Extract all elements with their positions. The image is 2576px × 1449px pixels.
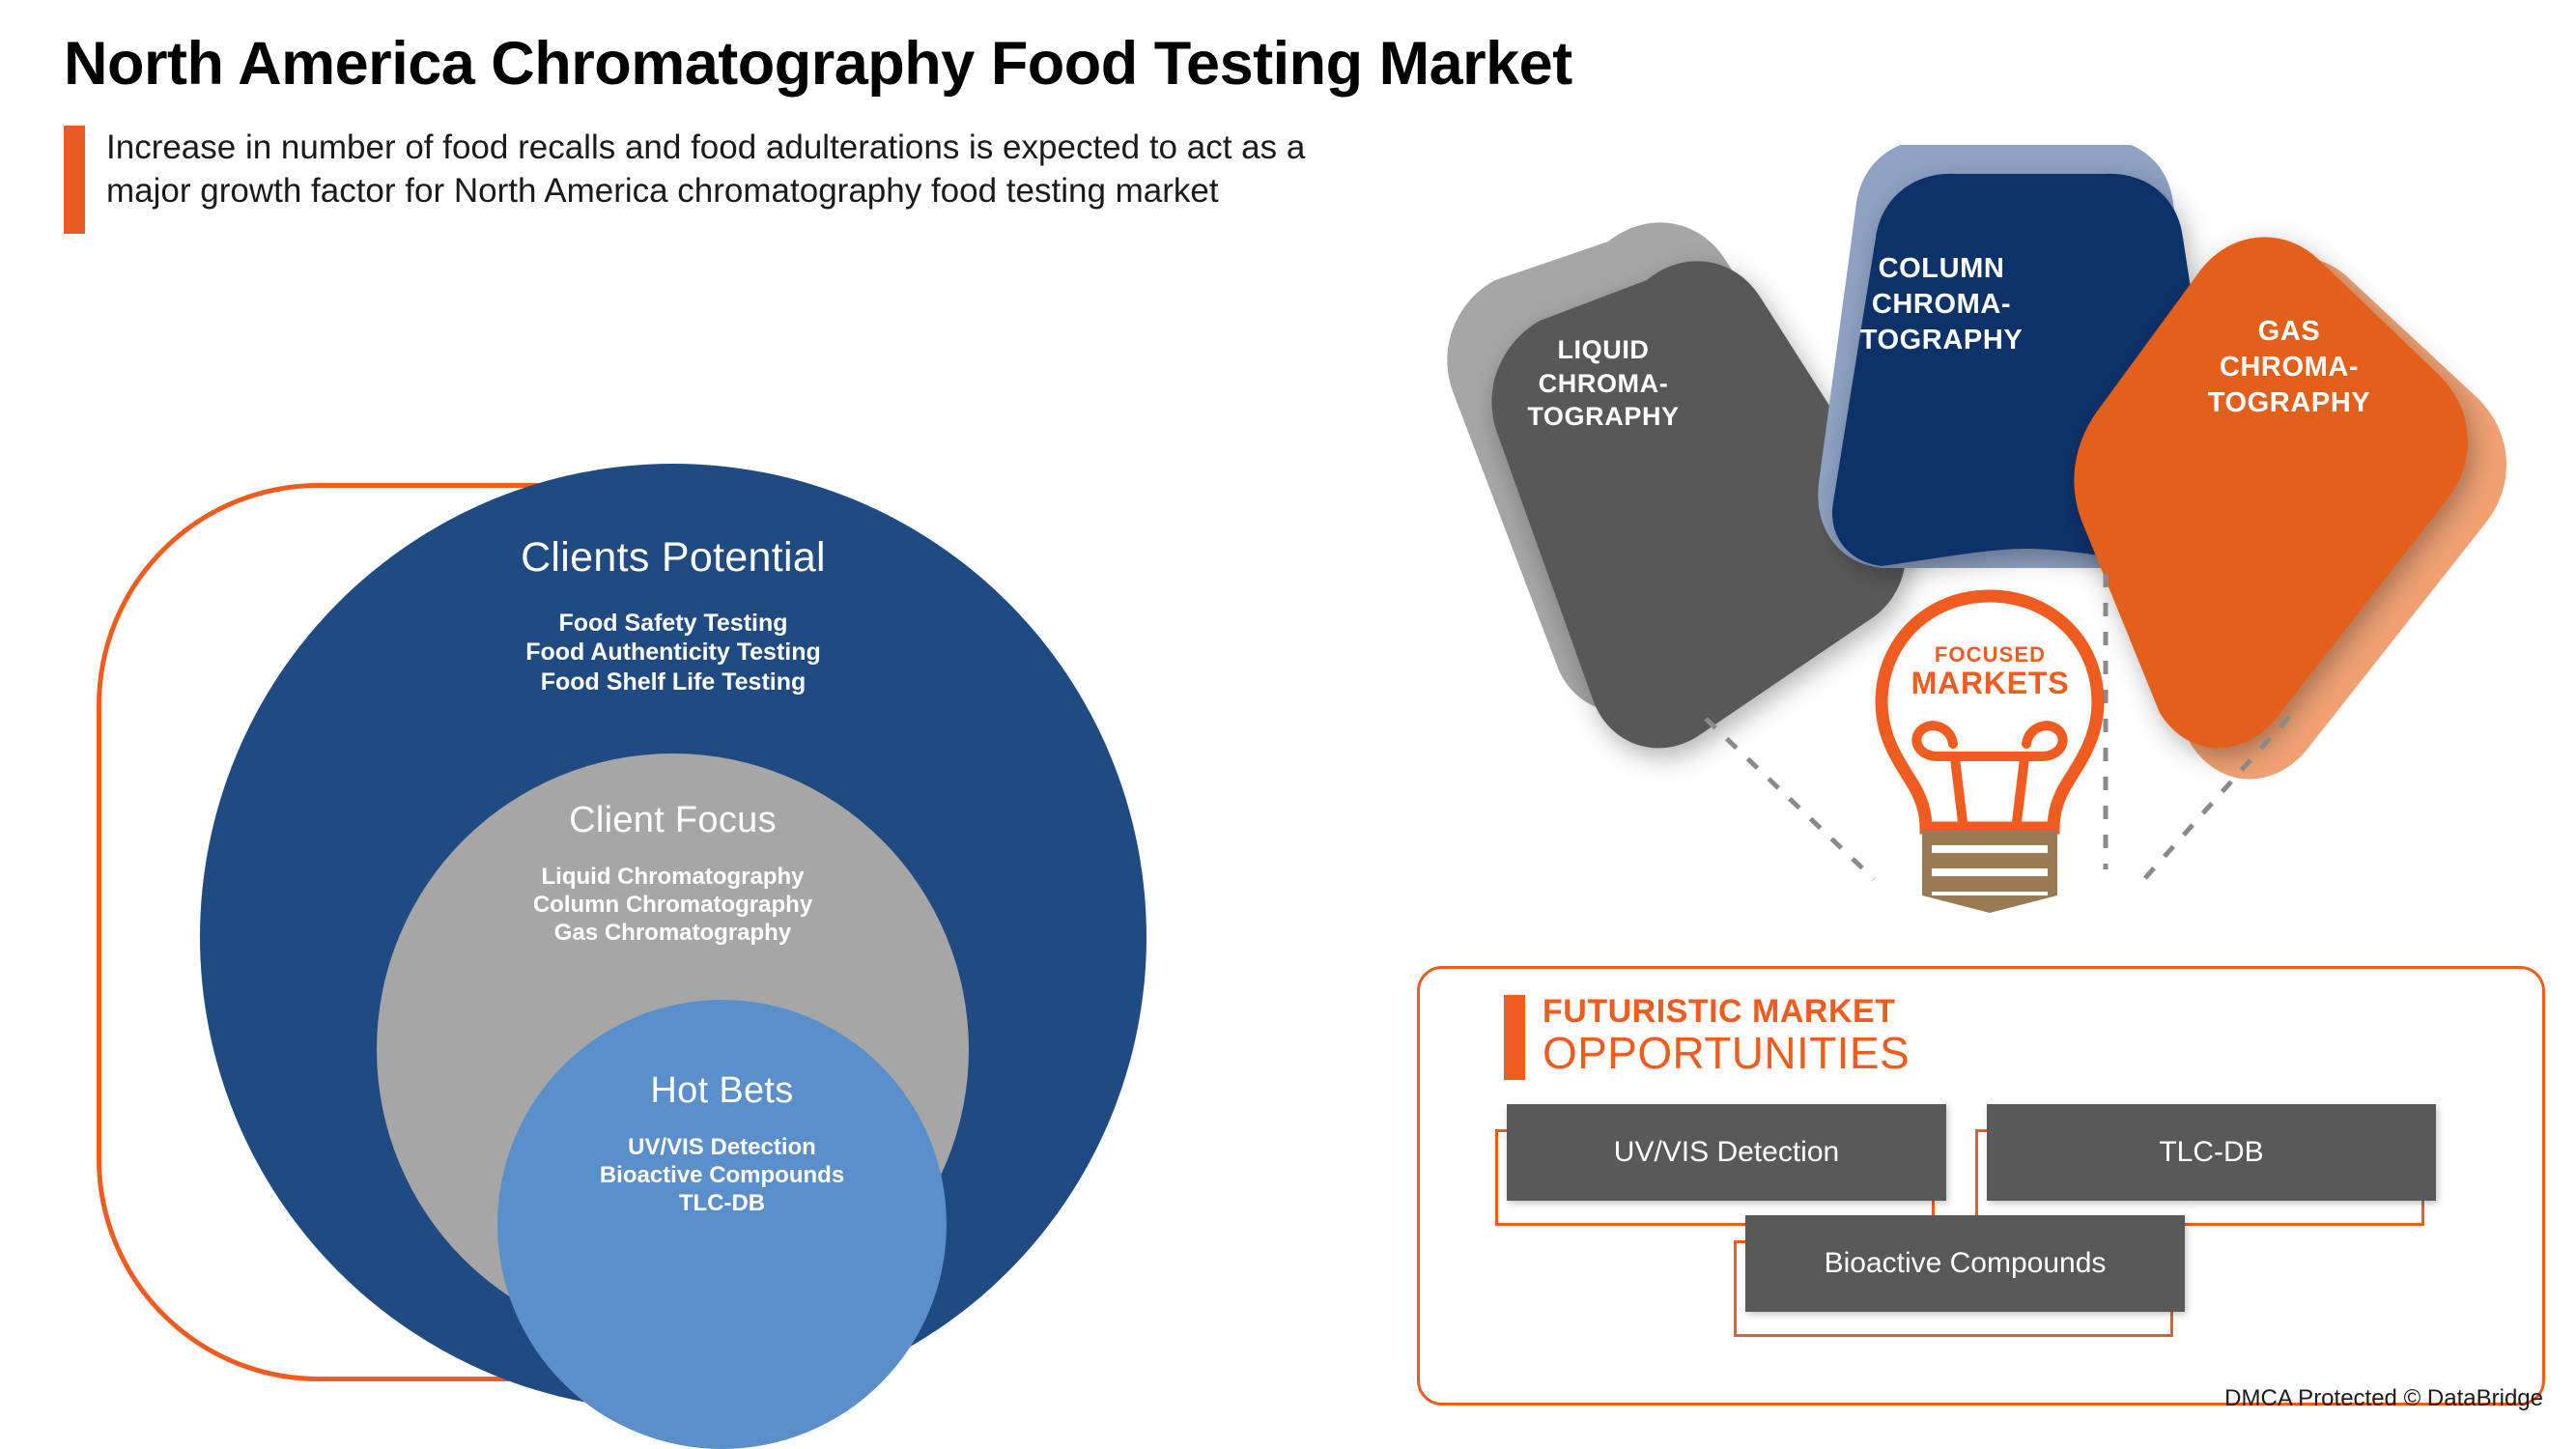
opportunities-heading: FUTURISTIC MARKET OPPORTUNITIES [1504,995,1910,1080]
opportunity-card[interactable]: TLC-DB [1975,1104,2424,1201]
page-title: North America Chromatography Food Testin… [64,29,1572,99]
opportunities-title: OPPORTUNITIES [1543,1030,1910,1077]
accent-bar-icon [1504,995,1525,1080]
bulb-filament [1916,725,2062,822]
infographic-canvas: North America Chromatography Food Testin… [0,0,2576,1449]
card-label: UV/VIS Detection [1614,1136,1839,1169]
circle-inner-items: UV/VIS DetectionBioactive CompoundsTLC-D… [600,1133,844,1217]
circle-outer-items: Food Safety TestingFood Authenticity Tes… [525,609,821,696]
bulb-glass [1882,596,2098,828]
subtitle-text: Increase in number of food recalls and f… [106,126,1352,213]
card-face[interactable]: TLC-DB [1987,1104,2436,1201]
opportunity-card[interactable]: UV/VIS Detection [1495,1104,1935,1201]
circle-middle-items: Liquid ChromatographyColumn Chromatograp… [533,863,812,947]
card-label: TLC-DB [2159,1136,2263,1169]
concentric-circles-diagram: Clients Potential Food Safety TestingFoo… [58,425,1178,1401]
subtitle-block: Increase in number of food recalls and f… [64,126,1352,234]
footer-copyright: DMCA Protected © DataBridge [2224,1385,2543,1412]
card-face[interactable]: Bioactive Compounds [1745,1215,2185,1312]
opportunities-kicker: FUTURISTIC MARKET [1543,995,1910,1028]
circle-inner-title: Hot Bets [650,1070,793,1112]
petal-label-liquid-chromatography: LIQUIDCHROMA-TOGRAPHY [1468,333,1739,434]
accent-bar-icon [64,126,85,234]
opportunity-card[interactable]: Bioactive Compounds [1734,1215,2173,1312]
petal-label-gas-chromatography: GASCHROMA-TOGRAPHY [2144,314,2434,421]
circle-hot-bets: Hot Bets UV/VIS DetectionBioactive Compo… [497,1000,947,1449]
connector-liquid [1706,719,1874,879]
focused-markets-lightbulb: FOCUSED MARKETS [1862,584,2118,913]
circle-middle-title: Client Focus [569,800,777,841]
card-label: Bioactive Compounds [1825,1247,2107,1280]
petal-label-column-chromatography: COLUMNCHROMA-TOGRAPHY [1797,251,2086,358]
bulb-base [1922,830,2057,913]
card-face[interactable]: UV/VIS Detection [1507,1104,1946,1201]
circle-outer-title: Clients Potential [521,534,826,582]
lightbulb-icon [1862,584,2118,913]
